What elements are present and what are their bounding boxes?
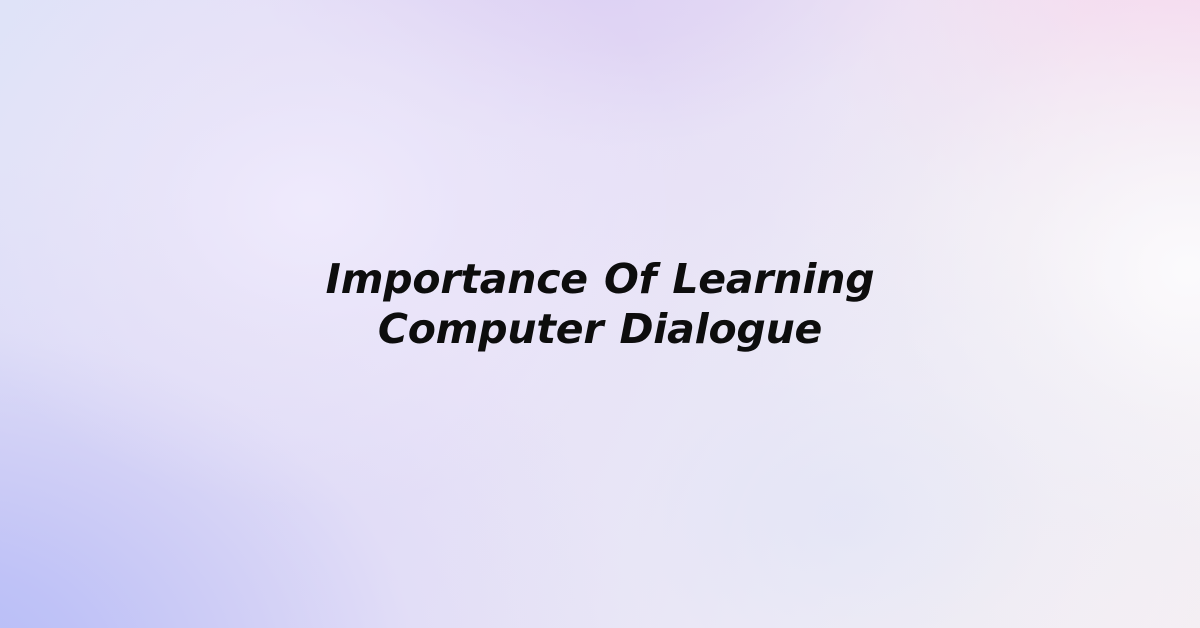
title-block: Importance Of Learning Computer Dialogue	[220, 254, 980, 354]
banner-canvas: Importance Of Learning Computer Dialogue	[0, 0, 1200, 628]
page-title: Importance Of Learning Computer Dialogue	[220, 254, 980, 354]
